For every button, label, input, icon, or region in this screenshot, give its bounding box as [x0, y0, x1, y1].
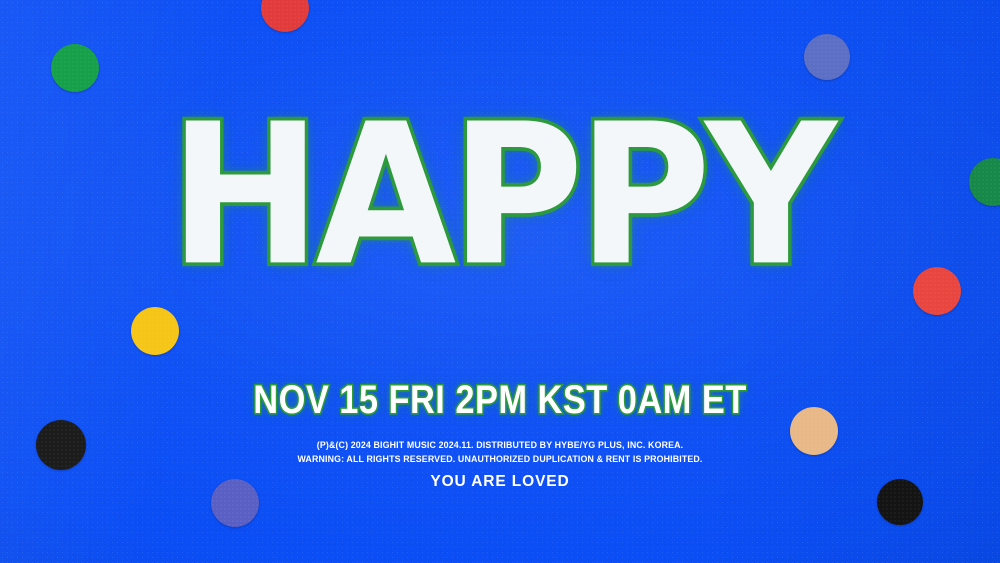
poster-content: HAPPY NOV 15 FRI 2PM KST 0AM ET (P)&(C) … — [0, 0, 1000, 563]
warning-line: WARNING: ALL RIGHTS RESERVED. UNAUTHORIZ… — [20, 453, 980, 467]
page-title: HAPPY — [0, 98, 1000, 293]
copyright-line: (P)&(C) 2024 BIGHIT MUSIC 2024.11. DISTR… — [20, 439, 980, 453]
release-date-line: NOV 15 FRI 2PM KST 0AM ET — [35, 380, 965, 420]
legal-fine-print: (P)&(C) 2024 BIGHIT MUSIC 2024.11. DISTR… — [0, 439, 1000, 466]
tagline: YOU ARE LOVED — [15, 474, 985, 490]
poster-canvas: HAPPY NOV 15 FRI 2PM KST 0AM ET (P)&(C) … — [0, 0, 1000, 563]
